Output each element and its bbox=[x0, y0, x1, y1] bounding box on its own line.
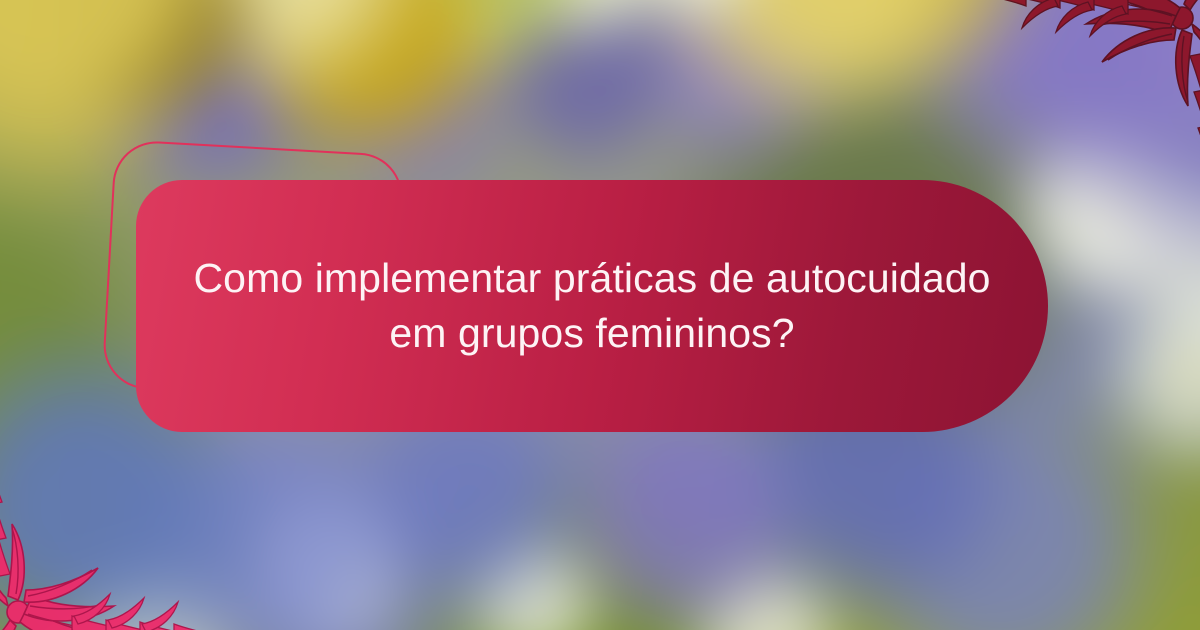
social-card-canvas: Como implementar práticas de autocuidado… bbox=[0, 0, 1200, 630]
headline-banner: Como implementar práticas de autocuidado… bbox=[136, 180, 1048, 432]
page-title: Como implementar práticas de autocuidado… bbox=[136, 251, 1048, 361]
